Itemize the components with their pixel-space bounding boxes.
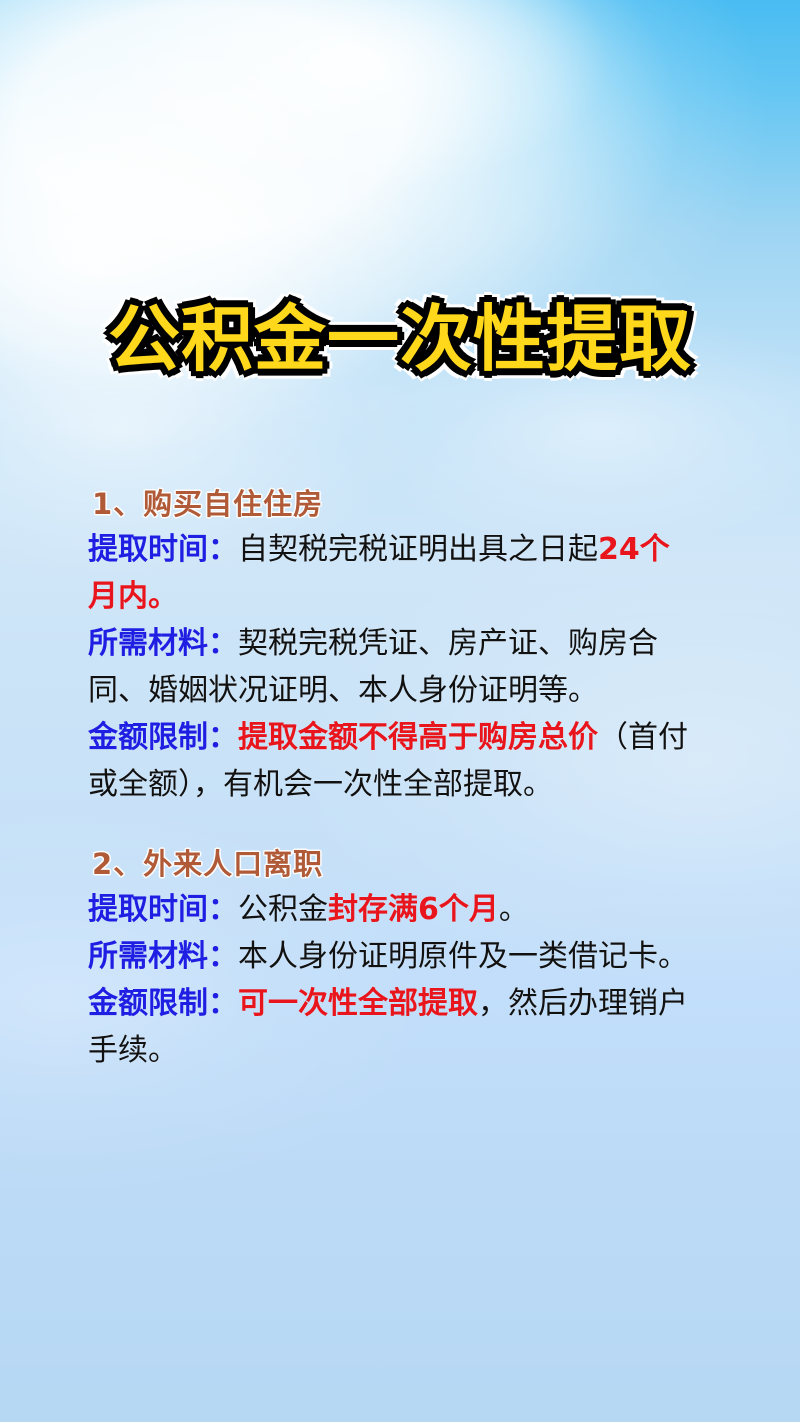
info-row: 提取时间：自契税完税证明出具之日起24个月内。	[88, 526, 698, 620]
info-row: 提取时间：公积金封存满6个月。	[88, 886, 698, 933]
poster-canvas: 公积金一次性提取 1、购买自住住房提取时间：自契税完税证明出具之日起24个月内。…	[0, 0, 800, 1422]
info-row-label: 所需材料：	[88, 626, 238, 661]
highlighted-text: 提取金额不得高于购房总价	[238, 720, 598, 755]
info-row: 金额限制：可一次性全部提取，然后办理销户手续。	[88, 980, 698, 1074]
body-text: 自契税完税证明出具之日起	[238, 532, 598, 567]
info-row: 所需材料：本人身份证明原件及一类借记卡。	[88, 933, 698, 980]
section-heading: 2、外来人口离职	[92, 842, 698, 886]
page-title: 公积金一次性提取	[108, 296, 692, 382]
content-section: 1、购买自住住房提取时间：自契税完税证明出具之日起24个月内。所需材料：契税完税…	[88, 482, 698, 808]
poster-title-container: 公积金一次性提取	[0, 296, 800, 382]
info-row: 金额限制：提取金额不得高于购房总价（首付或全额），有机会一次性全部提取。	[88, 714, 698, 808]
highlighted-text: 封存满6个月	[328, 892, 499, 927]
info-row-label: 所需材料：	[88, 939, 238, 974]
highlighted-text: 可一次性全部提取	[238, 986, 478, 1021]
body-text: 本人身份证明原件及一类借记卡。	[238, 939, 688, 974]
info-row-label: 金额限制：	[88, 720, 238, 755]
body-text: 。	[499, 892, 529, 927]
info-row-label: 提取时间：	[88, 532, 238, 567]
section-heading: 1、购买自住住房	[92, 482, 698, 526]
body-text: 公积金	[238, 892, 328, 927]
content-body: 1、购买自住住房提取时间：自契税完税证明出具之日起24个月内。所需材料：契税完税…	[88, 482, 698, 1074]
content-section: 2、外来人口离职提取时间：公积金封存满6个月。所需材料：本人身份证明原件及一类借…	[88, 842, 698, 1074]
info-row-label: 金额限制：	[88, 986, 238, 1021]
info-row: 所需材料：契税完税凭证、房产证、购房合同、婚姻状况证明、本人身份证明等。	[88, 620, 698, 714]
highlighted-text: 。	[148, 579, 178, 614]
info-row-label: 提取时间：	[88, 892, 238, 927]
